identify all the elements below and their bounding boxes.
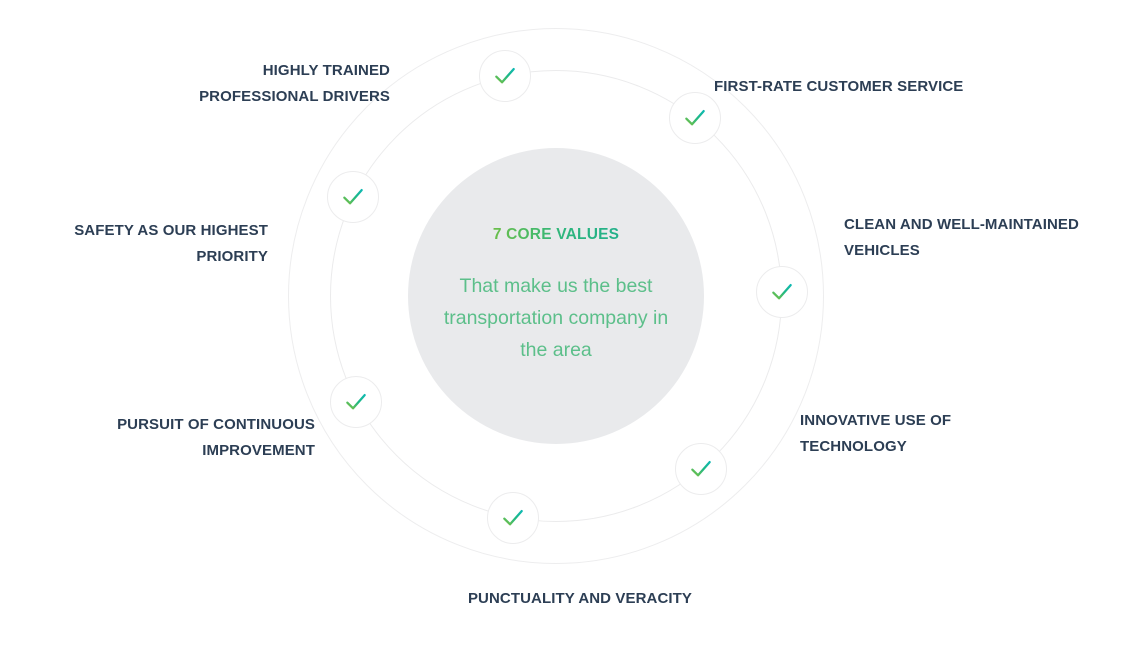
check-icon [343, 389, 369, 415]
check-icon [500, 505, 526, 531]
check-badge-pursuit-of-continuous-improvement [487, 492, 539, 544]
core-values-diagram: 7 CORE VALUES That make us the best tran… [0, 0, 1144, 648]
check-badge-first-rate-customer-service [479, 50, 531, 102]
center-title: 7 CORE VALUES [493, 226, 619, 244]
value-label-safety-as-our-highest-priority: SAFETY AS OUR HIGHEST PRIORITY [28, 218, 268, 270]
check-icon [340, 184, 366, 210]
value-label-punctuality-and-veracity: PUNCTUALITY AND VERACITY [430, 586, 730, 612]
value-label-clean-and-well-maintained-vehicles: CLEAN AND WELL-MAINTAINED VEHICLES [844, 212, 1104, 264]
value-label-first-rate-customer-service: FIRST-RATE CUSTOMER SERVICE [714, 74, 1014, 100]
value-label-innovative-use-of-technology: INNOVATIVE USE OF TECHNOLOGY [800, 408, 1040, 460]
check-icon [769, 279, 795, 305]
value-label-pursuit-of-continuous-improvement: PURSUIT OF CONTINUOUS IMPROVEMENT [75, 412, 315, 464]
center-description: That make us the best transportation com… [436, 270, 676, 366]
check-icon [492, 63, 518, 89]
value-label-highly-trained-professional-drivers: HIGHLY TRAINED PROFESSIONAL DRIVERS [150, 58, 390, 110]
center-text-group: 7 CORE VALUES That make us the best tran… [408, 148, 704, 444]
check-badge-punctuality-and-veracity [675, 443, 727, 495]
check-badge-highly-trained-professional-drivers [327, 171, 379, 223]
check-icon [688, 456, 714, 482]
check-icon [682, 105, 708, 131]
check-badge-innovative-use-of-technology [756, 266, 808, 318]
